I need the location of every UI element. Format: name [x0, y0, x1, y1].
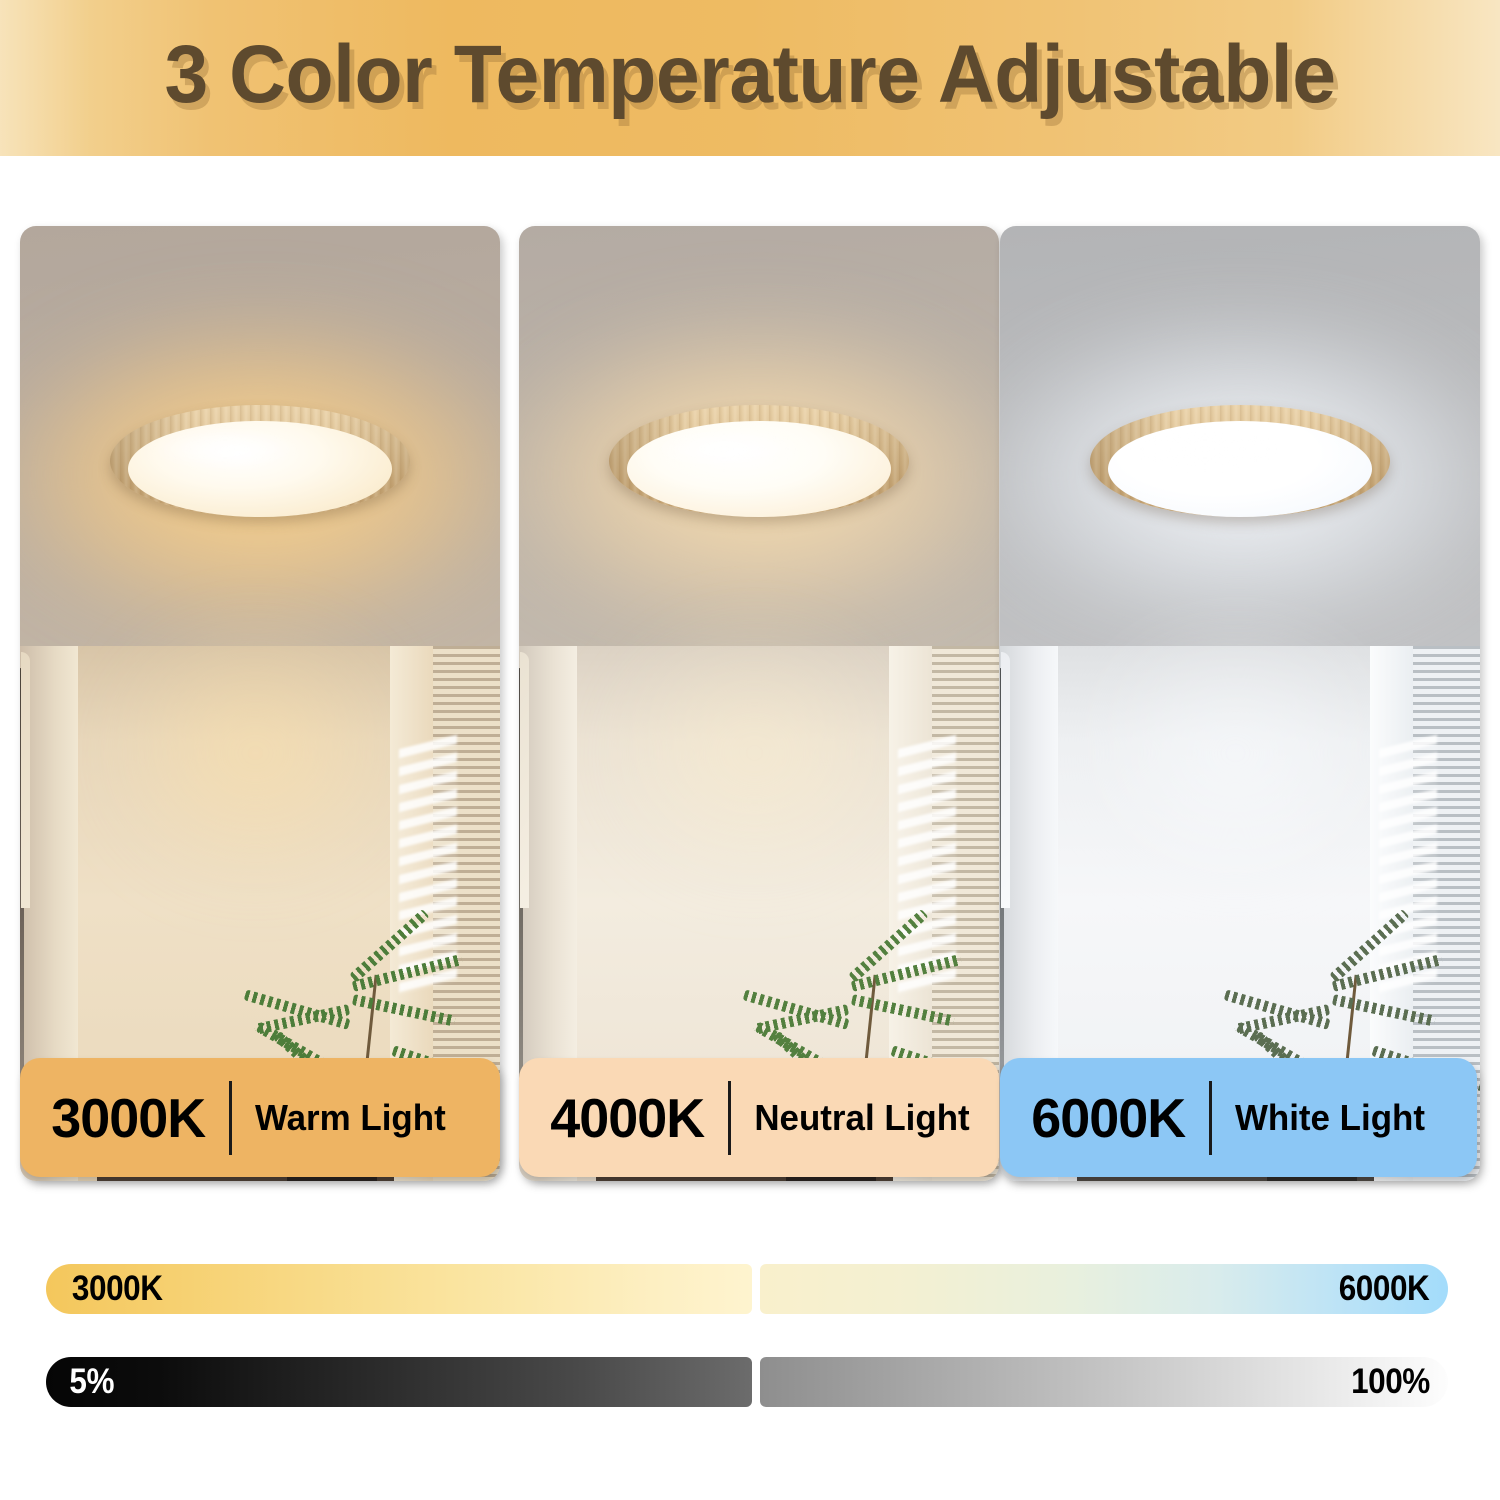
room-scene	[20, 226, 500, 1181]
arch-curve	[21, 652, 30, 909]
room-scene	[519, 226, 999, 1181]
ct-min-label: 3000K	[52, 1269, 162, 1309]
arch-curve	[1001, 652, 1010, 909]
scene-photo-3000k[interactable]	[20, 226, 500, 1181]
ceiling-light-fixture	[609, 405, 909, 535]
badge-kelvin: 6000K	[1002, 1086, 1185, 1150]
arch-curve	[520, 652, 529, 909]
wall-light-pool	[1077, 614, 1394, 892]
ct-max-label: 6000K	[1339, 1269, 1442, 1309]
badge-divider	[1209, 1081, 1212, 1155]
badge-divider	[728, 1081, 731, 1155]
color-temperature-bar-left[interactable]: 3000K	[46, 1264, 752, 1314]
brightness-min-label: 5%	[50, 1362, 114, 1402]
wall-light-pool	[596, 614, 913, 892]
badge-4000k[interactable]: 4000K Neutral Light	[519, 1058, 999, 1177]
brightness-bar-left[interactable]: 5%	[46, 1357, 752, 1407]
badge-light-name: White Light	[1235, 1097, 1425, 1139]
scene-photo-4000k[interactable]	[519, 226, 999, 1181]
brightness-max-label: 100%	[1352, 1362, 1443, 1402]
ceiling-light-fixture	[1090, 405, 1390, 535]
badge-kelvin: 4000K	[521, 1086, 704, 1150]
badge-light-name: Neutral Light	[754, 1097, 969, 1139]
diffuser-highlight	[649, 429, 799, 469]
color-temperature-bar-right[interactable]: 6000K	[760, 1264, 1448, 1314]
sunlight-stripes	[1379, 735, 1437, 995]
sunlight-stripes	[898, 735, 956, 995]
room-scene	[1000, 226, 1480, 1181]
product-infographic: 3 Color Temperature Adjustable	[0, 0, 1500, 1500]
badge-divider	[229, 1081, 232, 1155]
diffuser-highlight	[150, 429, 300, 469]
badge-3000k[interactable]: 3000K Warm Light	[20, 1058, 500, 1177]
wall-light-pool	[97, 614, 414, 892]
badge-light-name: Warm Light	[255, 1097, 446, 1139]
scene-photo-6000k[interactable]	[1000, 226, 1480, 1181]
sunlight-stripes	[399, 735, 457, 995]
ceiling-light-fixture	[110, 405, 410, 535]
badge-kelvin: 3000K	[22, 1086, 205, 1150]
diffuser-highlight	[1130, 429, 1280, 469]
brightness-bar-right[interactable]: 100%	[760, 1357, 1448, 1407]
badge-6000k[interactable]: 6000K White Light	[1000, 1058, 1477, 1177]
